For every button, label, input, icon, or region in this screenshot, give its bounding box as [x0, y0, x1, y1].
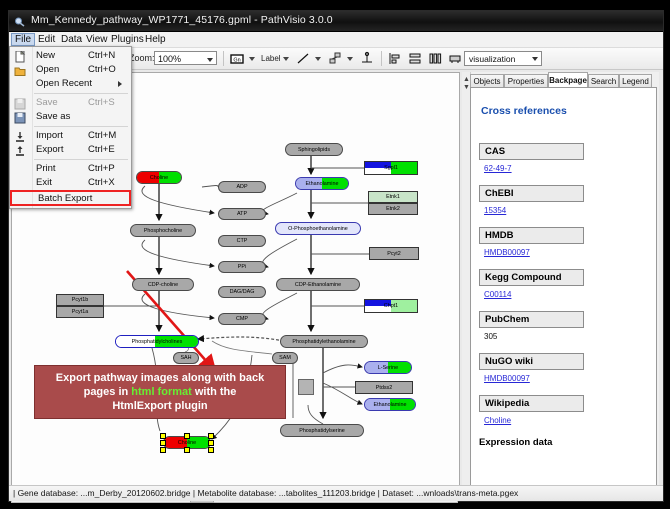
align-icon[interactable]: [387, 51, 403, 66]
pathway-node-ptdss2[interactable]: Ptdss2: [355, 381, 413, 394]
kegg-link[interactable]: C00114: [484, 290, 511, 299]
pathway-node-dag[interactable]: DAG/DAG: [218, 286, 266, 298]
selection-handle[interactable]: [160, 433, 166, 439]
zoom-select[interactable]: 100%: [154, 51, 217, 65]
tab-legend[interactable]: Legend: [619, 74, 652, 87]
open-folder-icon: [14, 64, 27, 76]
annotation-line2-post: with the: [192, 386, 237, 398]
annotation-line2-pre: pages in: [84, 386, 132, 398]
menu-separator: [34, 126, 128, 127]
label-tool-label[interactable]: Label: [261, 54, 281, 63]
annotation-line1: Export pathway images along with back: [56, 372, 264, 384]
tab-properties[interactable]: Properties: [504, 74, 548, 87]
menu-separator: [34, 159, 128, 160]
section-kegg: Kegg Compound: [479, 269, 584, 286]
section-label: PubChem: [485, 314, 529, 325]
selection-handle[interactable]: [208, 447, 214, 453]
chevron-down-icon[interactable]: ▼: [463, 84, 470, 91]
status-text: | Gene database: ...m_Derby_20120602.bri…: [13, 488, 518, 498]
section-wikipedia: Wikipedia: [479, 395, 584, 412]
submenu-arrow-icon: [118, 81, 122, 87]
selection-handle[interactable]: [184, 447, 190, 453]
nugo-link[interactable]: HMDB00097: [484, 374, 530, 383]
menu-item-accel: Ctrl+X: [88, 177, 115, 188]
node-label: Etnk1: [386, 194, 400, 200]
pathway-node-choline-top[interactable]: Choline: [136, 171, 182, 184]
title-bar: Mm_Kennedy_pathway_WP1771_45176.gpml - P…: [9, 11, 663, 32]
selection-handle[interactable]: [208, 433, 214, 439]
zoom-label: Zoom:: [129, 53, 155, 63]
node-label: ADP: [236, 184, 247, 190]
section-cas: CAS: [479, 143, 584, 160]
menu-file[interactable]: File: [11, 33, 35, 46]
dock-tabs: Objects Properties Backpage Search Legen…: [470, 72, 659, 88]
pathway-node-pcyt2[interactable]: Pcyt2: [369, 247, 419, 260]
section-label: CAS: [485, 146, 505, 157]
pathway-node-cdp-choline[interactable]: CDP-choline: [132, 278, 194, 291]
pathway-node-etnk2[interactable]: Etnk2: [368, 203, 418, 215]
reaction-anchor-box[interactable]: [298, 379, 314, 395]
section-label: ChEBI: [485, 188, 514, 199]
menu-item-import[interactable]: Import Ctrl+M: [10, 129, 131, 143]
menu-item-save: Save Ctrl+S: [10, 96, 131, 110]
pathway-node-pcyt1a[interactable]: Pcyt1a: [56, 306, 104, 318]
zoom-value: 100%: [158, 52, 181, 66]
menu-item-accel: Ctrl+S: [88, 97, 115, 108]
pathway-node-sam-1[interactable]: SAM: [272, 352, 298, 364]
menu-item-label: Save: [36, 97, 58, 108]
interaction-icon[interactable]: [327, 51, 343, 66]
toolbar-separator: [223, 51, 224, 66]
menu-item-label: Batch Export: [38, 193, 92, 204]
export-icon: [14, 144, 27, 156]
menu-item-label: Open: [36, 64, 59, 75]
pathway-node-pcyt1b[interactable]: Pcyt1b: [56, 294, 104, 306]
section-label: Wikipedia: [485, 398, 529, 409]
interaction-dropdown-icon[interactable]: [347, 57, 353, 61]
node-label: DAG/DAG: [230, 289, 255, 295]
node-label: Choline: [178, 440, 196, 446]
pathway-node-phosphatidylserine[interactable]: Phosphatidylserine: [280, 424, 364, 437]
pathvisio-icon: [14, 15, 26, 27]
node-label: Ethanolamine: [306, 181, 339, 187]
chebi-link[interactable]: 15354: [484, 206, 506, 215]
pathway-node-chpt1[interactable]: Chpt1: [364, 299, 418, 313]
pathway-node-phosphocholine[interactable]: Phosphocholine: [130, 224, 196, 237]
backpage-panel[interactable]: Cross references CAS 62-49-7 ChEBI 15354…: [470, 87, 657, 489]
node-label: Pcyt2: [387, 251, 400, 257]
wikipedia-link[interactable]: Choline: [484, 416, 511, 425]
selection-handle[interactable]: [208, 440, 214, 446]
section-label: Kegg Compound: [485, 272, 562, 283]
svg-text:Gn: Gn: [233, 58, 240, 64]
node-label: Sphingolipids: [298, 147, 330, 153]
menu-item-print[interactable]: Print Ctrl+P: [10, 162, 131, 176]
menu-item-accel: Ctrl+N: [88, 50, 115, 61]
save-icon: [14, 97, 27, 109]
visualization-select[interactable]: visualization: [464, 51, 542, 66]
toolbar-separator: [381, 51, 382, 66]
file-menu-popup[interactable]: New Ctrl+N Open Ctrl+O Open Recent Save: [9, 46, 132, 209]
pathway-node-o-phosphoethanolamine[interactable]: O-Phosphoethanolamine: [275, 222, 361, 235]
pathway-node-phosphatidylcholines[interactable]: Phosphatidylcholines: [115, 335, 199, 348]
pathway-node-adp[interactable]: ADP: [218, 181, 266, 193]
pathway-node-l-serine[interactable]: L-Serine: [364, 361, 412, 374]
pathway-node-sphingolipids[interactable]: Sphingolipids: [285, 143, 343, 156]
pathway-node-ethanolamine-2[interactable]: Ethanolamine: [364, 398, 416, 411]
node-label: CDP-Ethanolamine: [295, 282, 341, 288]
menu-item-open[interactable]: Open Ctrl+O: [10, 63, 131, 77]
datanode-dropdown-icon[interactable]: [249, 57, 255, 61]
expression-data-heading: Expression data: [479, 437, 552, 448]
pathway-node-ctp[interactable]: CTP: [218, 235, 266, 247]
node-label: Phosphatidylethanolamine: [292, 339, 355, 345]
section-pubchem: PubChem: [479, 311, 584, 328]
pathway-node-ethanolamine-1[interactable]: Ethanolamine: [295, 177, 349, 190]
pathway-node-atp[interactable]: ATP: [218, 208, 266, 220]
chevron-up-icon[interactable]: ▲: [463, 76, 470, 83]
tab-search[interactable]: Search: [588, 74, 619, 87]
menu-item-accel: Ctrl+E: [88, 144, 115, 155]
node-label: Choline: [150, 175, 168, 181]
pathway-node-etnk1[interactable]: Etnk1: [368, 191, 418, 203]
cross-references-heading: Cross references: [481, 105, 567, 117]
menu-item-exit[interactable]: Exit Ctrl+X: [10, 176, 131, 190]
selection-handle[interactable]: [160, 447, 166, 453]
menu-item-new[interactable]: New Ctrl+N: [10, 49, 131, 63]
node-label: Etnk2: [386, 206, 400, 212]
node-label: Pcyt1b: [72, 297, 88, 303]
menu-item-batch-export[interactable]: Batch Export: [10, 190, 131, 206]
pathway-node-cmp[interactable]: CMP: [218, 313, 266, 325]
annotation-callout: Export pathway images along with back pa…: [34, 365, 286, 419]
node-label: Phosphatidylserine: [299, 428, 345, 434]
node-label: Phosphocholine: [144, 228, 182, 234]
save-as-icon: [14, 111, 27, 123]
node-label: Sgpl1: [384, 165, 398, 171]
node-label: ATP: [237, 211, 247, 217]
status-bar: | Gene database: ...m_Derby_20120602.bri…: [9, 485, 663, 501]
section-nugo-wiki: NuGO wiki: [479, 353, 584, 370]
menu-edit[interactable]: Edit: [34, 33, 59, 46]
node-label: CTP: [237, 238, 248, 244]
node-label: O-Phosphoethanolamine: [288, 226, 348, 232]
node-label: Pcyt1a: [72, 309, 88, 315]
hmdb-link[interactable]: HMDB00097: [484, 248, 530, 257]
datanode-icon[interactable]: Gn: [229, 51, 245, 66]
menu-item-save-as[interactable]: Save as: [10, 110, 131, 124]
menu-item-accel: Ctrl+O: [88, 64, 116, 75]
anchor-icon[interactable]: [359, 51, 375, 66]
section-label: NuGO wiki: [485, 356, 533, 367]
pubchem-value: 305: [484, 332, 497, 341]
menu-item-label: Print: [36, 163, 56, 174]
menu-item-label: Export: [36, 144, 63, 155]
line-dropdown-icon[interactable]: [315, 57, 321, 61]
menu-item-open-recent[interactable]: Open Recent: [10, 77, 131, 91]
node-label: Phosphatidylcholines: [132, 339, 183, 345]
cas-link[interactable]: 62-49-7: [484, 164, 512, 173]
node-label: SAM: [279, 355, 291, 361]
pathway-node-ppi[interactable]: PPi: [218, 261, 266, 273]
node-label: Chpt1: [384, 303, 398, 309]
menu-item-export[interactable]: Export Ctrl+E: [10, 143, 131, 157]
section-chebi: ChEBI: [479, 185, 584, 202]
pathway-node-phosphatidylethanolamine[interactable]: Phosphatidylethanolamine: [280, 335, 368, 348]
node-label: L-Serine: [378, 365, 398, 371]
tab-objects[interactable]: Objects: [470, 74, 504, 87]
menu-help[interactable]: Help: [141, 33, 170, 46]
stack-icon[interactable]: [407, 51, 423, 66]
window-title: Mm_Kennedy_pathway_WP1771_45176.gpml - P…: [31, 14, 333, 26]
selection-handle[interactable]: [160, 440, 166, 446]
menu-item-accel: Ctrl+P: [88, 163, 115, 174]
menu-item-label: Import: [36, 130, 63, 141]
menu-item-accel: Ctrl+M: [88, 130, 116, 141]
distribute-icon[interactable]: [427, 51, 443, 66]
group-icon[interactable]: [447, 51, 463, 66]
label-dropdown-icon[interactable]: [283, 57, 289, 61]
annotation-highlight: html format: [131, 386, 192, 398]
import-icon: [14, 130, 27, 142]
screenshot-root: Mm_Kennedy_pathway_WP1771_45176.gpml - P…: [0, 0, 670, 509]
selection-handle[interactable]: [184, 433, 190, 439]
menu-item-label: Save as: [36, 111, 70, 122]
node-label: CMP: [236, 316, 248, 322]
node-label: Ptdss2: [376, 385, 392, 391]
node-label: SAH: [180, 355, 191, 361]
pathway-node-cdp-ethanolamine[interactable]: CDP-Ethanolamine: [276, 278, 360, 291]
menu-item-label: New: [36, 50, 55, 61]
section-hmdb: HMDB: [479, 227, 584, 244]
node-label: Ethanolamine: [374, 402, 407, 408]
tab-backpage[interactable]: Backpage: [548, 72, 588, 87]
line-icon[interactable]: [295, 51, 311, 66]
menu-item-label: Open Recent: [36, 78, 92, 89]
pathway-node-sgpl1[interactable]: Sgpl1: [364, 161, 418, 175]
pathway-node-sah-1[interactable]: SAH: [173, 352, 199, 364]
menu-item-label: Exit: [36, 177, 52, 188]
pathvisio-window: Mm_Kennedy_pathway_WP1771_45176.gpml - P…: [8, 10, 664, 502]
menu-separator: [34, 93, 128, 94]
chevron-down-icon: [532, 57, 538, 61]
visualization-value: visualization: [469, 54, 515, 64]
chevron-down-icon: [207, 58, 213, 62]
side-dock: ▲ ▼ Objects Properties Backpage Search L…: [462, 72, 659, 493]
new-file-icon: [14, 50, 27, 62]
node-label: CDP-choline: [148, 282, 178, 288]
annotation-line3: HtmlExport plugin: [112, 400, 207, 412]
section-label: HMDB: [485, 230, 514, 241]
annotation-text: Export pathway images along with back pa…: [50, 371, 270, 413]
node-label: PPi: [238, 264, 246, 270]
